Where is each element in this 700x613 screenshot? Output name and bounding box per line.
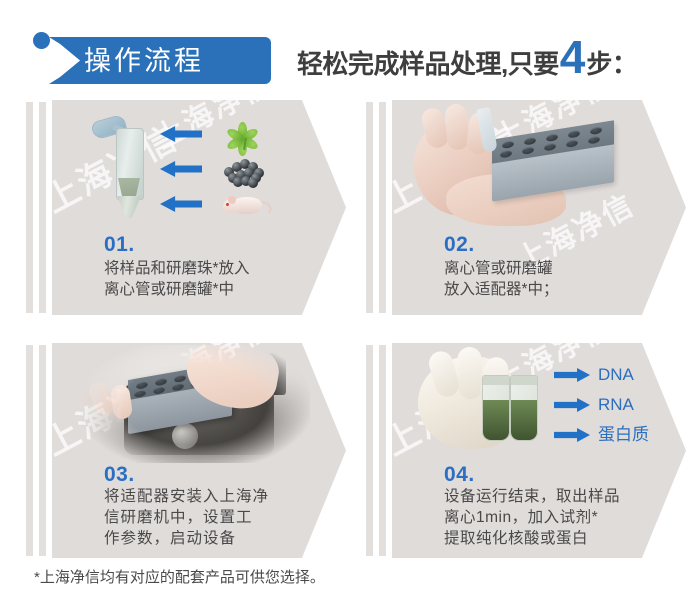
- card-panel: 上海净信 上海净信 上海净信: [392, 100, 686, 315]
- step-number: 03.: [104, 463, 135, 487]
- card-accent-bar: [26, 345, 33, 556]
- step-number: 04.: [444, 463, 475, 487]
- headline-step-count: 4: [560, 39, 586, 76]
- card-accent-bar: [379, 345, 386, 556]
- step-number: 02.: [444, 233, 475, 257]
- sample-vial-icon: [510, 375, 538, 441]
- step-card-1: 上海净信 上海净信: [26, 100, 346, 315]
- card-accent-bar: [26, 102, 33, 313]
- step-caption: 设备运行结束，取出样品 离心1min，加入试剂* 提取纯化核酸或蛋白: [444, 486, 686, 549]
- arrow-left-icon: [160, 126, 202, 142]
- output-label: DNA: [598, 363, 634, 387]
- footnote: *上海净信均有对应的配套产品可供您选择。: [34, 566, 325, 587]
- grinding-beads-icon: [216, 153, 268, 187]
- output-row-rna: RNA: [554, 393, 664, 417]
- step-number: 01.: [104, 233, 135, 257]
- steps-grid: 上海净信 上海净信: [0, 100, 700, 555]
- tube-cone: [117, 196, 141, 218]
- output-row-protein: 蛋白质: [554, 423, 664, 447]
- card-accent-bar: [39, 102, 46, 313]
- section-title: 操作流程: [84, 41, 264, 81]
- step-card-2: 上海净信 上海净信 上海净信: [366, 100, 686, 315]
- card-panel: 上海净信 上海净信 DNA: [392, 343, 686, 558]
- card-panel: 上海净信 上海净信: [52, 343, 346, 558]
- step-card-4: 上海净信 上海净信 DNA: [366, 343, 686, 558]
- card-accent-bar: [39, 345, 46, 556]
- step-card-3: 上海净信 上海净信: [26, 343, 346, 558]
- step-1-artwork: [52, 100, 346, 230]
- arrow-left-icon: [160, 196, 202, 212]
- output-label: 蛋白质: [598, 423, 649, 447]
- card-accent-bar: [366, 345, 373, 556]
- input-row-beads: [160, 157, 330, 183]
- arrow-left-icon: [160, 161, 202, 177]
- leaf-icon: [216, 118, 268, 152]
- arrow-right-icon: [554, 398, 590, 412]
- card-accent-bar: [379, 102, 386, 313]
- step-caption: 离心管或研磨罐 放入适配器*中；: [444, 258, 684, 300]
- input-row-leaf: [160, 122, 330, 148]
- arrow-right-icon: [554, 368, 590, 382]
- headline-prefix: 轻松完成样品处理,只要: [297, 44, 559, 81]
- centrifuge-tube-icon: [110, 118, 144, 213]
- output-label: RNA: [598, 393, 634, 417]
- headline: 轻松完成样品处理,只要 4 步：: [297, 39, 637, 84]
- headline-suffix: 步：: [586, 44, 637, 81]
- card-panel: 上海净信 上海净信: [52, 100, 346, 315]
- mouse-icon: [216, 188, 268, 222]
- page-header: 操作流程 轻松完成样品处理,只要 4 步：: [0, 0, 700, 96]
- step-2-artwork: [406, 102, 626, 230]
- step-caption: 将适配器安装入上海净 信研磨机中，设置工 作参数，启动设备: [104, 486, 344, 549]
- step-3-artwork: [80, 345, 310, 463]
- input-row-mouse: [160, 192, 330, 218]
- output-row-dna: DNA: [554, 363, 664, 387]
- step-4-artwork: DNA RNA 蛋白质: [418, 353, 658, 465]
- arrow-right-icon: [554, 428, 590, 442]
- sample-vial-icon: [482, 375, 510, 441]
- adapter-block-icon: [492, 120, 614, 201]
- dot-icon: [33, 32, 50, 49]
- step-caption: 将样品和研磨珠*放入 离心管或研磨罐*中: [104, 258, 344, 300]
- card-accent-bar: [366, 102, 373, 313]
